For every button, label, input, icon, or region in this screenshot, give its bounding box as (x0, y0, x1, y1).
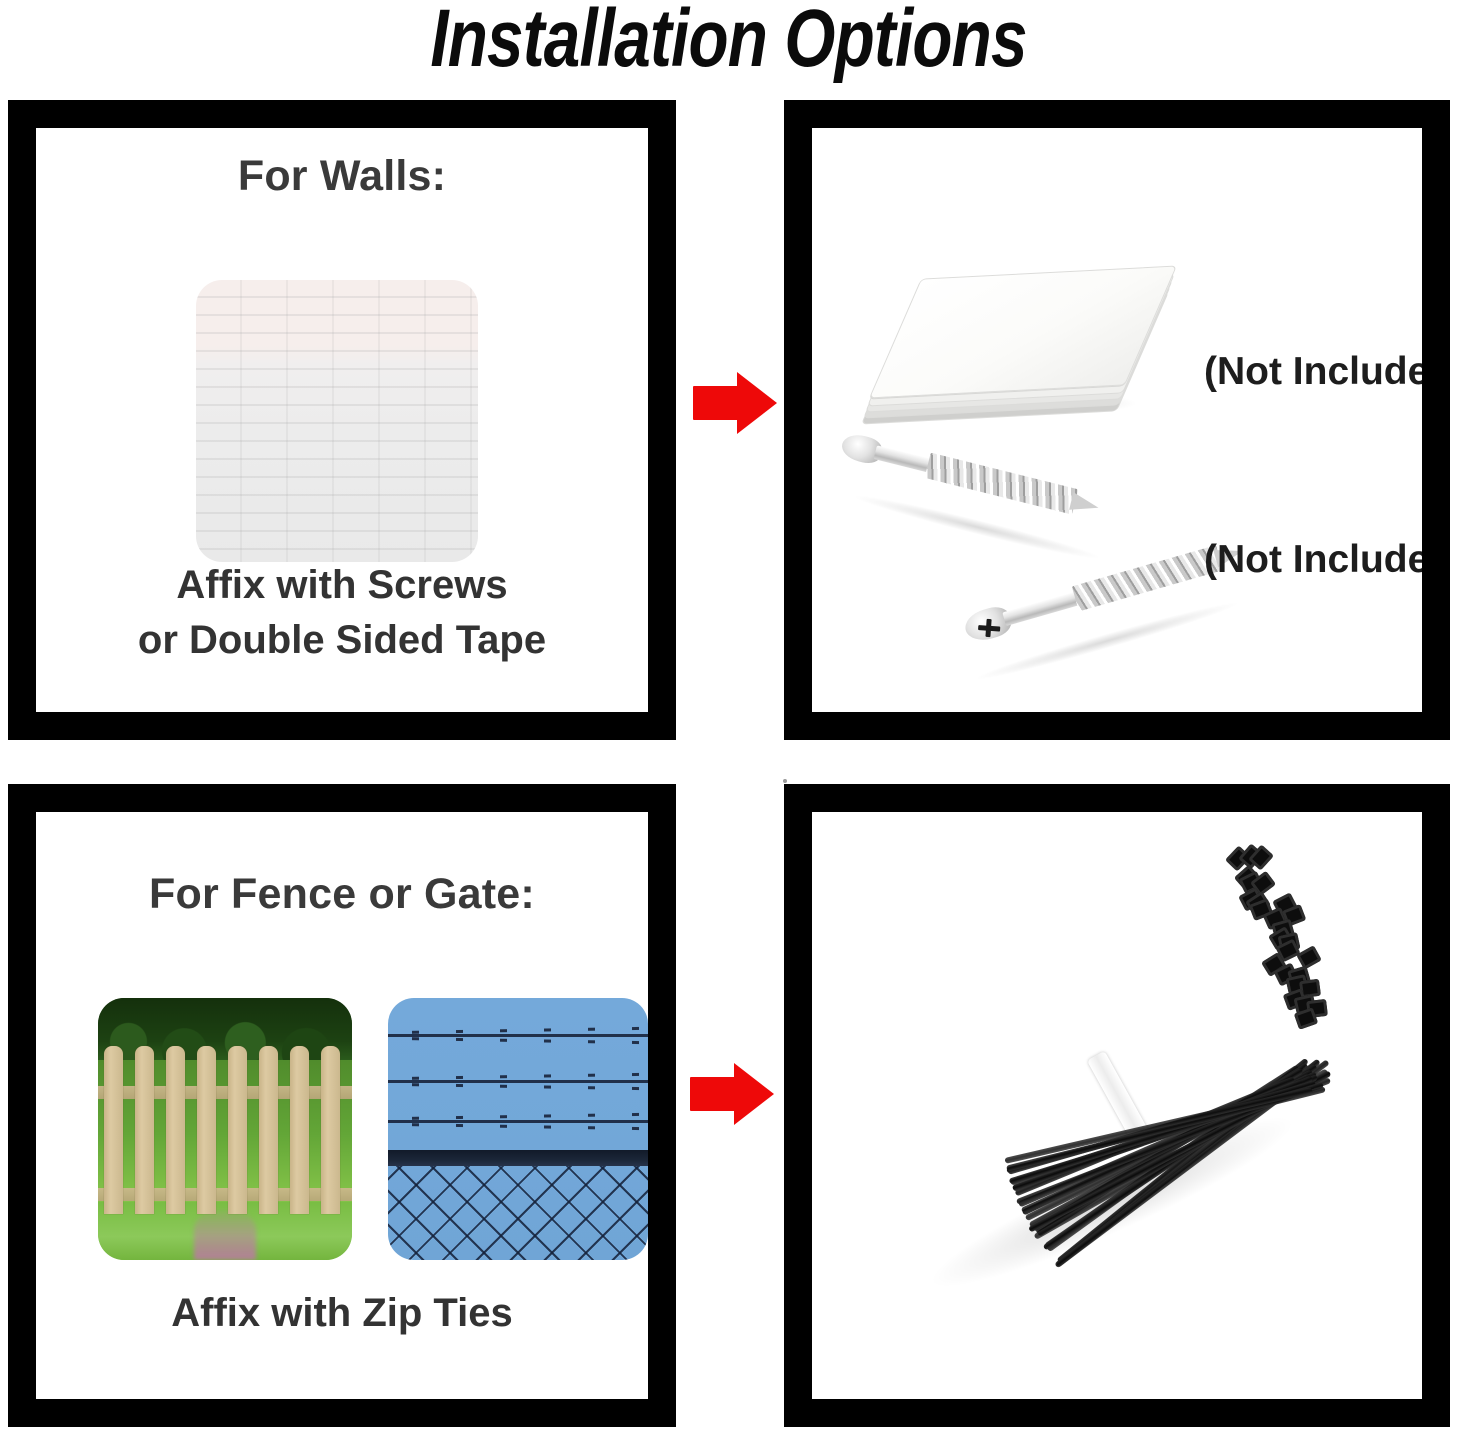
panel-for-walls-content: For Walls: Affix with Screws or Double S… (36, 128, 648, 712)
panel-fence-hardware-content: (Not Included) (812, 812, 1422, 1399)
barbed-wire-strand (388, 1120, 648, 1123)
panel-for-walls: For Walls: Affix with Screws or Double S… (8, 100, 676, 740)
panel-for-fence-or-gate-content: For Fence or Gate: (36, 812, 648, 1399)
arrow-head (734, 1063, 774, 1125)
black-zip-tie-bundle-image (872, 922, 1352, 1322)
fence-picket (259, 1046, 278, 1214)
screws-not-included-note: (Not Included) (1204, 538, 1422, 582)
barbed-wire-strand (388, 1034, 648, 1037)
fence-picket (197, 1046, 216, 1214)
wooden-picket-fence-photo (98, 998, 352, 1260)
for-fence-caption-line1: Affix with Zip Ties (36, 1286, 648, 1341)
scan-artifact-dot (783, 779, 787, 783)
for-fence-caption: Affix with Zip Ties (36, 1286, 648, 1341)
for-walls-caption: Affix with Screws or Double Sided Tape (36, 558, 648, 668)
screw-shank (874, 445, 934, 473)
panel-fence-hardware: (Not Included) (784, 784, 1450, 1427)
for-walls-heading: For Walls: (36, 152, 648, 201)
screw-tip (1069, 492, 1101, 516)
white-brick-wall-image (196, 280, 478, 562)
screw-shank (1002, 591, 1081, 626)
fence-picket (228, 1046, 247, 1214)
panel-wall-hardware-content: (Not Included) (Not Included) (812, 128, 1422, 712)
for-walls-caption-line1: Affix with Screws (36, 558, 648, 613)
page-title: Installation Options (146, 0, 1312, 82)
chain-link-fence-photo (388, 998, 648, 1260)
for-fence-heading: For Fence or Gate: (36, 870, 648, 919)
chain-link-mesh (388, 1166, 648, 1260)
double-sided-tape-stack-image (876, 236, 1176, 426)
fence-picket (104, 1046, 123, 1214)
panel-wall-hardware: (Not Included) (Not Included) (784, 100, 1450, 740)
wood-screw-image (839, 431, 1127, 526)
tape-not-included-note: (Not Included) (1204, 350, 1422, 394)
fence-picket (290, 1046, 309, 1214)
fence-picket (135, 1046, 154, 1214)
fence-picket (166, 1046, 185, 1214)
fence-picket (321, 1046, 340, 1214)
for-walls-caption-line2: or Double Sided Tape (36, 613, 648, 668)
picket-group (98, 1046, 352, 1236)
barbed-wire-strand (388, 1080, 648, 1083)
fence-top-rail (388, 1150, 648, 1166)
screw-threads (925, 453, 1079, 515)
panel-for-fence-or-gate: For Fence or Gate: (8, 784, 676, 1427)
arrow-head (737, 372, 777, 434)
